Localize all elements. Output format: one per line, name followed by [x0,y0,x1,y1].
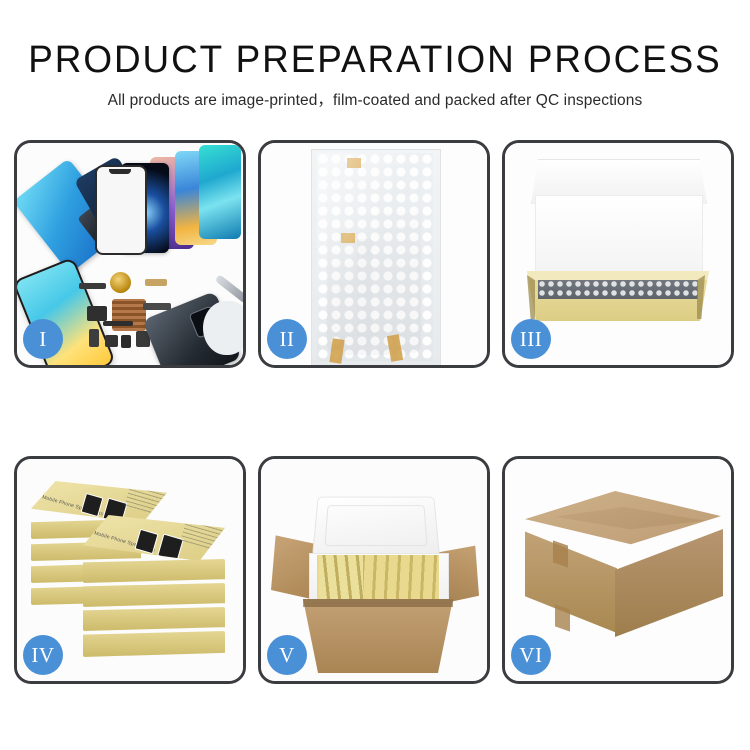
stacked-box-side-5 [83,559,225,583]
ribbon-cable-icon [103,321,133,326]
step-panel-6: VI [502,456,734,684]
box-print-screen-thumb-4 [157,534,184,562]
step-card-1[interactable]: I [14,140,246,368]
step-card-6[interactable]: VI [502,456,734,684]
step-card-3[interactable]: III [502,140,734,368]
carton-tape-lower-icon [555,604,570,631]
step-numeral-4: IV [31,645,54,666]
box-rim-icon [527,271,709,280]
flex-cable-part-icon [143,303,171,310]
steps-row-2: Mobile Phone Spare Parts Mobile Phone Sp… [14,456,736,684]
plastic-sheen-icon [317,153,433,361]
stacked-box-top-upper: Mobile Phone Spare Parts [31,481,167,523]
button-part-icon [121,335,131,348]
carton-right-face-icon [615,529,723,637]
stacked-box-side-8 [83,631,225,657]
phone-teal-wallpaper-icon [199,145,241,239]
product-preparation-infographic: PRODUCT PREPARATION PROCESS All products… [0,0,750,750]
header: PRODUCT PREPARATION PROCESS All products… [0,0,750,110]
step-numeral-5: V [279,645,295,666]
stacked-box-side-6 [83,583,225,607]
step-card-4[interactable]: Mobile Phone Spare Parts Mobile Phone Sp… [14,456,246,684]
page-title: PRODUCT PREPARATION PROCESS [11,40,739,80]
step-panel-1: I [14,140,246,368]
hand-icon [203,301,243,355]
step-badge-4: IV [23,635,63,675]
page-subtitle: All products are image-printed，film-coat… [0,92,750,110]
repair-tweezers-icon [215,274,243,304]
step-numeral-3: III [520,329,542,350]
step-panel-4: Mobile Phone Spare Parts Mobile Phone Sp… [14,456,246,684]
step-badge-2: II [267,319,307,359]
gold-flex-part-icon [145,279,167,286]
box-print-text-block-2 [180,516,231,554]
step-badge-1: I [23,319,63,359]
step-panel-3: III [502,140,734,368]
phone-front-glass-icon [95,165,147,255]
step-badge-5: V [267,635,307,675]
foam-box-lid-icon [312,497,440,556]
foam-sheet-icon [535,195,703,273]
step-numeral-1: I [39,329,47,350]
speaker-part-icon [105,335,118,347]
box-print-text-block-1 [124,481,175,519]
steps-row-1: I [14,140,736,368]
stacked-box-side-7 [83,607,225,631]
step-numeral-6: VI [519,645,542,666]
carton-left-face-icon [525,525,617,633]
carton-front-rim-icon [303,599,453,607]
step-card-5[interactable]: V [258,456,490,684]
steps-grid: I [14,140,736,684]
step-card-2[interactable]: II [258,140,490,368]
step-numeral-2: II [280,329,295,350]
connector-part-icon [79,283,106,289]
step-panel-5: V [258,456,490,684]
carton-tape-upper-icon [553,540,568,567]
vibration-motor-icon [110,272,131,293]
step-panel-2: II [258,140,490,368]
inner-boxes-stack-icon [319,555,363,599]
step-badge-3: III [511,319,551,359]
step-badge-6: VI [511,635,551,675]
small-part-icon [89,329,99,347]
camera-module-icon [87,306,107,321]
logic-board-chip-icon [112,299,146,331]
box-left-edge-icon [527,275,535,319]
carton-front-panel-icon [303,599,453,673]
